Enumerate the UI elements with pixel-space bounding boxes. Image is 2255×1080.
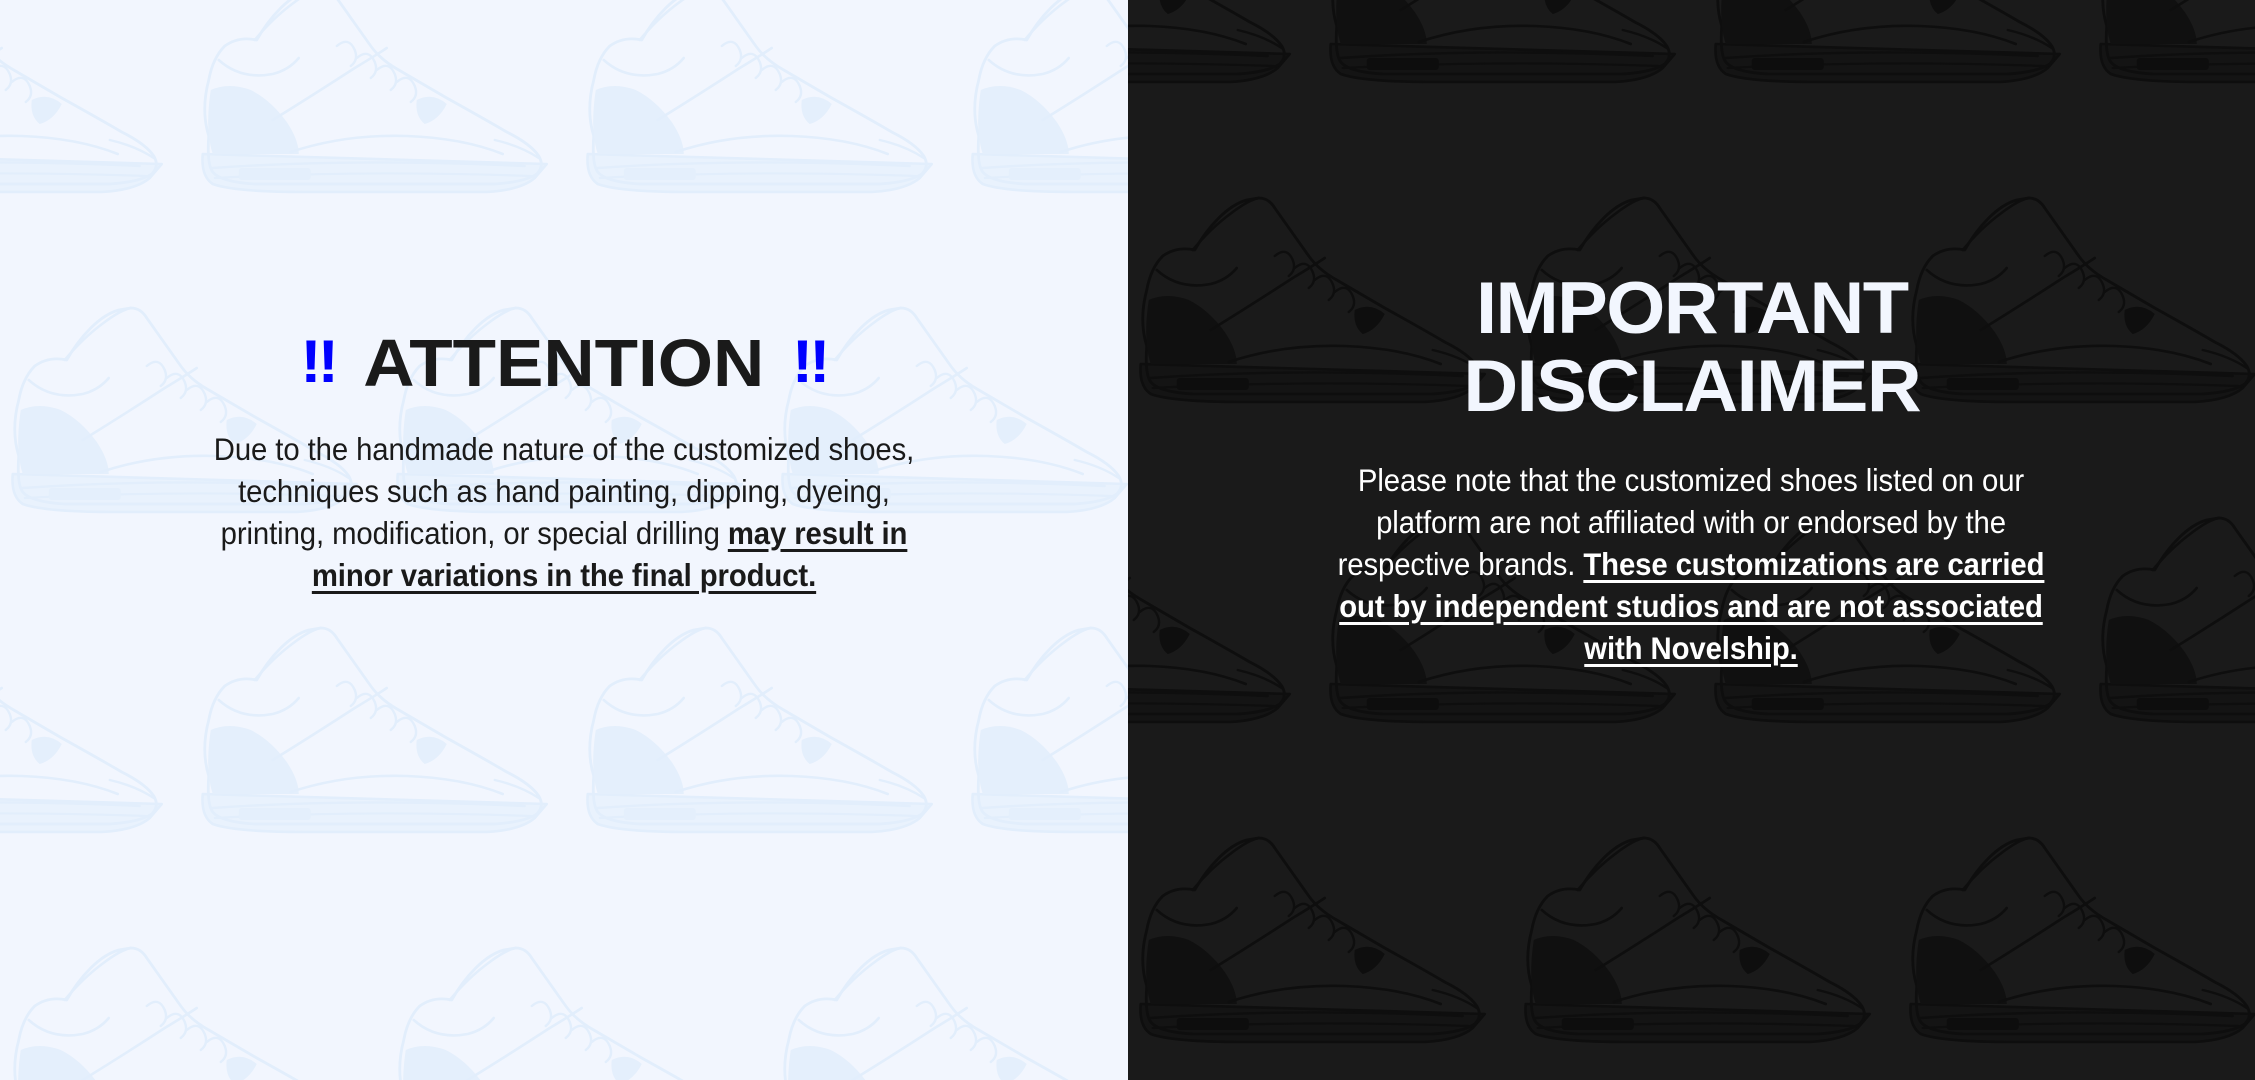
double-exclamation-left-icon: ‼ xyxy=(300,332,335,392)
disclaimer-body: Please note that the customized shoes li… xyxy=(1319,460,2063,669)
disclaimer-banner: ‼ ATTENTION ‼ Due to the handmade nature… xyxy=(0,0,2255,1080)
attention-heading-word: ATTENTION xyxy=(363,330,764,397)
disclaimer-heading: IMPORTANT DISCLAIMER xyxy=(1199,270,2184,426)
disclaimer-panel: IMPORTANT DISCLAIMER Please note that th… xyxy=(1128,0,2255,1080)
attention-body: Due to the handmade nature of the custom… xyxy=(192,429,936,597)
attention-panel: ‼ ATTENTION ‼ Due to the handmade nature… xyxy=(0,0,1128,1080)
disclaimer-content: IMPORTANT DISCLAIMER Please note that th… xyxy=(1128,270,2255,670)
attention-content: ‼ ATTENTION ‼ Due to the handmade nature… xyxy=(0,330,1128,597)
disclaimer-heading-line2: DISCLAIMER xyxy=(1199,348,2184,426)
attention-heading: ‼ ATTENTION ‼ xyxy=(72,330,1055,397)
double-exclamation-right-icon: ‼ xyxy=(792,332,827,392)
disclaimer-heading-line1: IMPORTANT xyxy=(1199,270,2184,348)
